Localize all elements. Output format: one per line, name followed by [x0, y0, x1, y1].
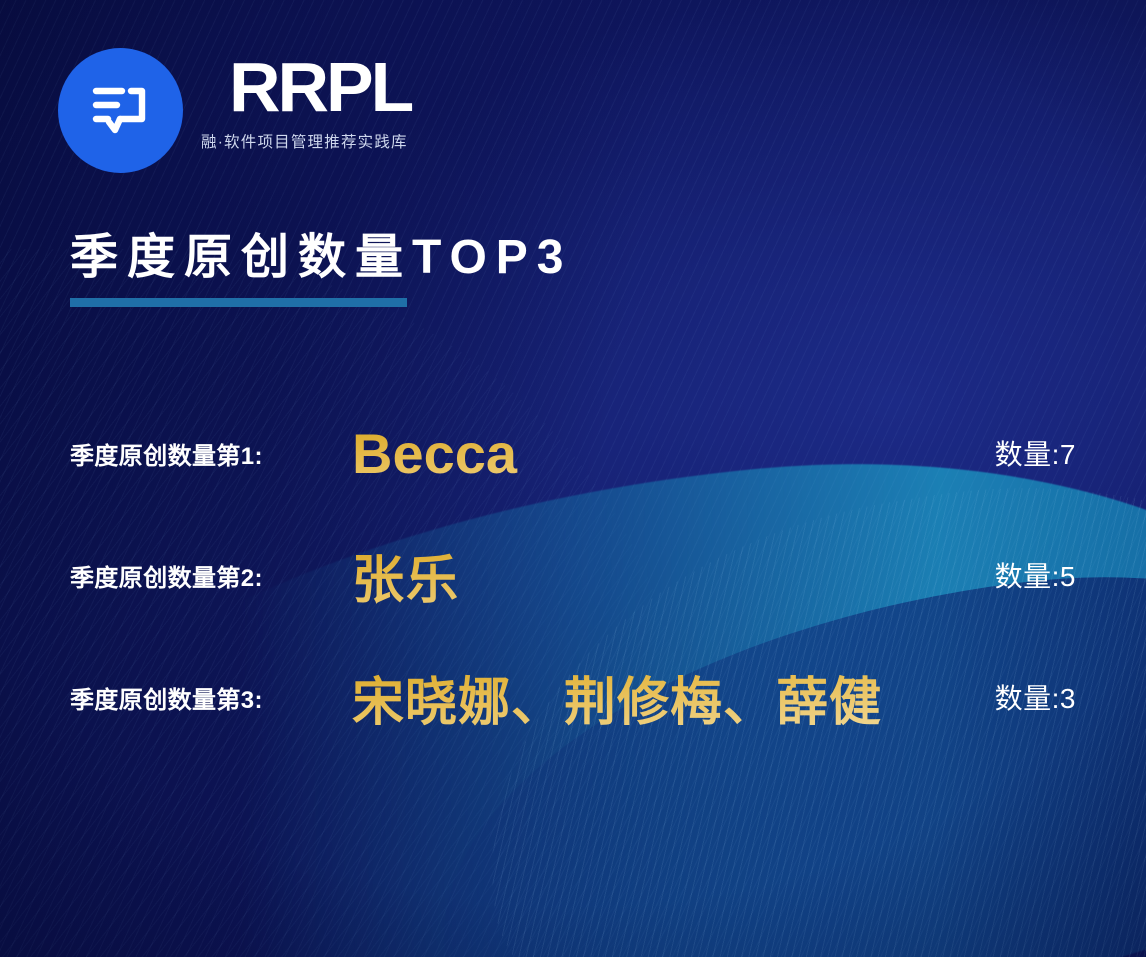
rank-label-3: 季度原创数量第3:: [70, 680, 352, 715]
rank-count-2: 数量:5: [995, 555, 1076, 595]
rank-names-3: 宋晓娜、荆修梅、薛健: [352, 660, 995, 735]
rank-names-1: Becca: [352, 421, 995, 486]
rank-label-1: 季度原创数量第1:: [70, 436, 352, 471]
brand-tagline: 融·软件项目管理推荐实践库: [201, 130, 408, 152]
poster-content: RRPL 融·软件项目管理推荐实践库 季度原创数量TOP3 季度原创数量第1: …: [0, 0, 1146, 957]
brand-wordmark: RRPL: [229, 54, 411, 121]
rank-label-2: 季度原创数量第2:: [70, 558, 352, 593]
ranking-row-3: 季度原创数量第3: 宋晓娜、荆修梅、薛健 数量:3: [0, 636, 1146, 758]
brand-wordmark-group: RRPL 融·软件项目管理推荐实践库: [201, 48, 408, 152]
ranking-list: 季度原创数量第1: Becca 数量:7 季度原创数量第2: 张乐 数量:5 季…: [0, 392, 1146, 758]
ranking-row-1: 季度原创数量第1: Becca 数量:7: [0, 392, 1146, 514]
rank-count-1: 数量:7: [995, 433, 1076, 473]
speech-bubble-check-icon: [58, 48, 183, 173]
rank-count-3: 数量:3: [995, 677, 1076, 717]
page-title: 季度原创数量TOP3: [70, 230, 573, 285]
title-underline-rule: [70, 298, 407, 307]
rank-names-2: 张乐: [352, 538, 995, 613]
ranking-row-2: 季度原创数量第2: 张乐 数量:5: [0, 514, 1146, 636]
page-title-block: 季度原创数量TOP3: [70, 230, 573, 307]
brand-logo: RRPL 融·软件项目管理推荐实践库: [58, 48, 408, 173]
poster-canvas: RRPL 融·软件项目管理推荐实践库 季度原创数量TOP3 季度原创数量第1: …: [0, 0, 1146, 957]
